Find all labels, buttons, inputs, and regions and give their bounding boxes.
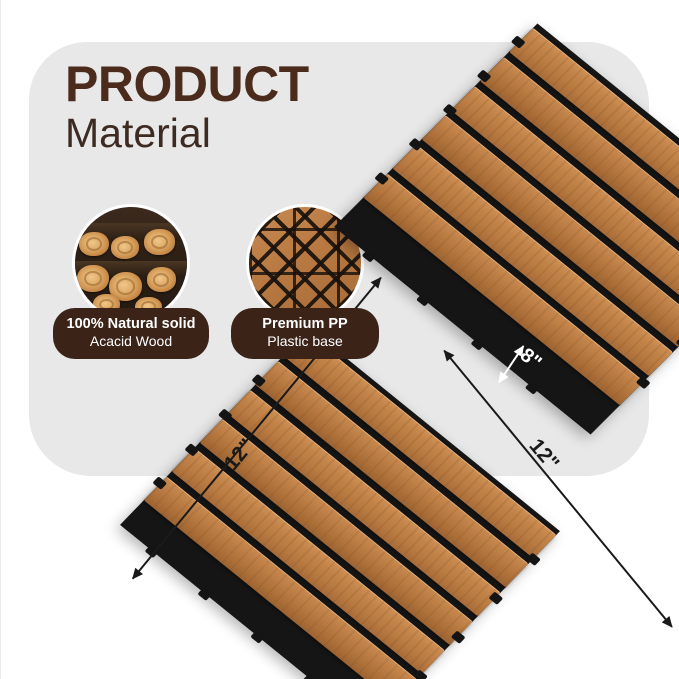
title-sub: Material	[65, 110, 309, 157]
title-main: PRODUCT	[65, 58, 309, 110]
wood-logs-icon	[72, 204, 190, 322]
badge-line2: Plastic base	[245, 333, 365, 351]
product-material-infographic: PRODUCT Material	[0, 0, 679, 679]
badge-line1: 100% Natural solid	[67, 316, 196, 333]
page-title: PRODUCT Material	[65, 58, 309, 157]
arrow-head-end	[662, 616, 677, 631]
badge-natural-wood: 100% Natural solid Acacid Wood	[53, 308, 210, 359]
badge-line2: Acacid Wood	[67, 333, 196, 351]
badge-line1: Premium PP	[245, 316, 365, 333]
badge-plastic-base: Premium PP Plastic base	[231, 308, 379, 359]
arrow-head-start	[128, 568, 143, 583]
feature-natural-wood: 100% Natural solid Acacid Wood	[59, 204, 203, 359]
